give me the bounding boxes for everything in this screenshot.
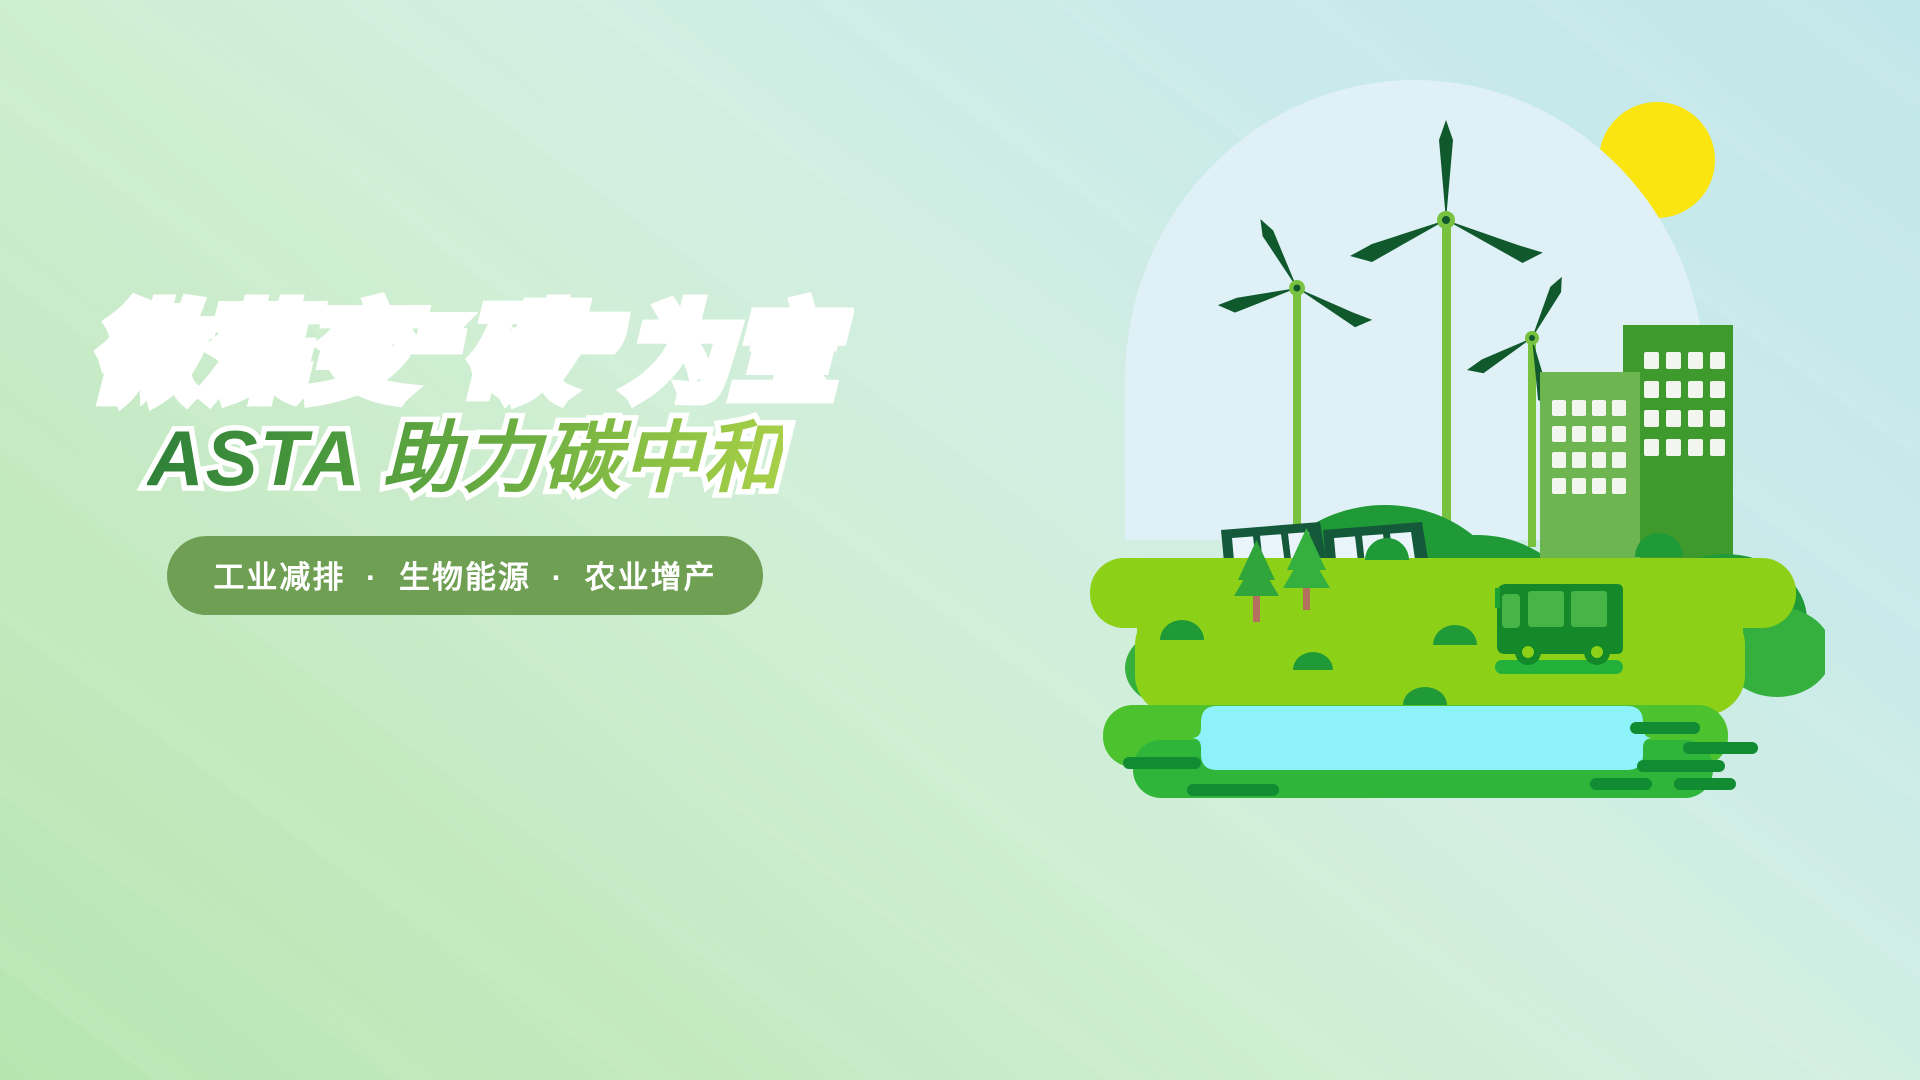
page-title-text: 微藻变“碳”为宝 <box>93 297 837 413</box>
tagline-item-3: 农业增产 <box>585 560 717 595</box>
page-title: 微藻变“碳”为宝 微藻变“碳”为宝 <box>93 300 837 410</box>
eco-banner: 微藻变“碳”为宝 微藻变“碳”为宝 ASTA 助力碳中和 ASTA 助力碳中和 … <box>0 0 1920 1080</box>
tagline-item-2: 生物能源 <box>399 560 531 595</box>
tagline-separator-1: · <box>356 560 388 595</box>
tagline-badge: 工业减排 · 生物能源 · 农业增产 <box>167 536 762 615</box>
lake-shape <box>1103 705 1758 798</box>
bus-icon <box>1495 584 1623 674</box>
page-subtitle-text: ASTA 助力碳中和 <box>147 414 782 502</box>
tagline-separator-2: · <box>542 560 574 595</box>
tagline-item-1: 工业减排 <box>213 560 345 595</box>
page-subtitle: ASTA 助力碳中和 ASTA 助力碳中和 <box>147 416 782 502</box>
eco-city-illustration <box>1085 60 1825 810</box>
banner-text-block: 微藻变“碳”为宝 微藻变“碳”为宝 ASTA 助力碳中和 ASTA 助力碳中和 … <box>0 300 930 615</box>
